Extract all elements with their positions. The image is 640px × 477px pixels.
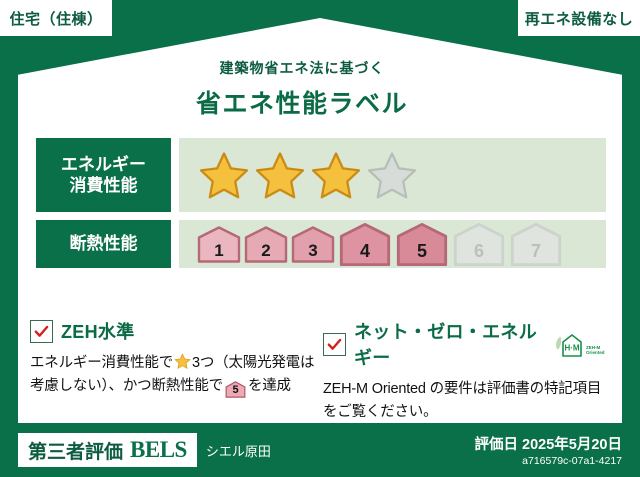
insulation-grade-badge: 1 [197,223,241,266]
net-zero-energy-header: ネット・ゼロ・エネルギー H·M ZEH-M Oriented [323,318,610,370]
inline-grade-badge: 5 [225,381,246,398]
energy-star-rating [179,138,606,212]
title-block: 建築物省エネ法に基づく 省エネ性能ラベル [0,58,604,120]
zeh-standard-title: ZEH水準 [61,318,135,344]
net-zero-energy-checkbox[interactable] [323,333,346,356]
insulation-grade-value: 3 [308,241,317,261]
evaluation-meta: 評価日 2025年5月20日 a716579c-07a1-4217 [475,433,622,467]
footer-bar: 第三者評価 BELS シエル原田 評価日 2025年5月20日 a716579c… [0,423,640,477]
energy-performance-label: エネルギー 消費性能 [36,138,171,212]
insulation-grade-badge: 3 [291,223,335,266]
insulation-performance-row: 断熱性能 1234567 [36,220,606,268]
criteria-columns: ZEH水準 エネルギー消費性能で3つ（太陽光発電は考慮しない）、かつ断熱性能で5… [30,318,610,425]
title-subtitle: 建築物省エネ法に基づく [0,58,604,78]
zeh-body-part1: エネルギー消費性能で [30,355,173,371]
inline-star-icon [174,353,191,370]
energy-label-line1: エネルギー [61,154,146,175]
insulation-grade-badge: 5 [395,222,449,267]
insulation-grade-value: 7 [531,241,541,262]
insulation-grade-badge: 7 [509,222,563,267]
page-title: 省エネ性能ラベル [0,84,604,120]
net-zero-energy-title: ネット・ゼロ・エネルギー [354,318,544,370]
zeh-standard-header: ZEH水準 [30,318,317,344]
bels-badge: 第三者評価 BELS [18,433,197,467]
insulation-grade-value: 6 [474,241,484,262]
bels-logo-text: BELS [130,437,187,463]
check-icon [34,324,49,339]
star-icon-filled [199,151,249,199]
evaluation-date: 評価日 2025年5月20日 [475,433,622,454]
zeh-m-oriented-logo-icon: H·M ZEH-M Oriented [554,329,610,359]
net-zero-energy-body: ZEH-M Oriented の要件は評価書の特記項目をご覧ください。 [323,378,610,425]
svg-text:H·M: H·M [564,344,579,353]
star-icon-empty [367,151,417,199]
evaluation-id: a716579c-07a1-4217 [475,455,622,467]
insulation-grade-badge: 2 [244,223,288,266]
energy-performance-row: エネルギー 消費性能 [36,138,606,212]
check-icon [327,337,342,352]
star-icon-filled [311,151,361,199]
svg-text:ZEH-M: ZEH-M [586,345,600,350]
building-name: シエル原田 [206,441,271,460]
zeh-standard-checkbox[interactable] [30,320,53,343]
tag-housing-type: 住宅（住棟） [0,0,112,36]
insulation-grade-scale: 1234567 [179,220,606,268]
insulation-grade-badge: 4 [338,222,392,267]
tag-housing-type-label: 住宅（住棟） [9,8,102,29]
insulation-grade-badge: 6 [452,222,506,267]
energy-label-line2: 消費性能 [70,175,138,196]
zeh-standard-column: ZEH水準 エネルギー消費性能で3つ（太陽光発電は考慮しない）、かつ断熱性能で5… [30,318,317,425]
tag-renewable-energy-label: 再エネ設備なし [525,8,634,29]
insulation-grade-value: 2 [261,241,270,261]
star-icon-filled [255,151,305,199]
zeh-standard-body: エネルギー消費性能で3つ（太陽光発電は考慮しない）、かつ断熱性能で5を達成 [30,352,317,399]
insulation-grade-value: 4 [360,241,370,262]
insulation-grade-value: 5 [417,241,427,262]
performance-rows: エネルギー 消費性能 断熱性能 1234567 [36,138,606,276]
inline-grade-value: 5 [225,381,246,400]
tag-renewable-energy: 再エネ設備なし [518,0,640,36]
third-party-eval-label: 第三者評価 [28,437,123,464]
insulation-performance-label: 断熱性能 [36,220,171,268]
insulation-label-text: 断熱性能 [70,233,138,254]
svg-text:Oriented: Oriented [586,350,605,355]
insulation-grade-value: 1 [214,241,223,261]
zeh-body-part3: を達成 [248,378,291,394]
net-zero-energy-column: ネット・ゼロ・エネルギー H·M ZEH-M Oriented ZEH-M Or… [317,318,610,425]
